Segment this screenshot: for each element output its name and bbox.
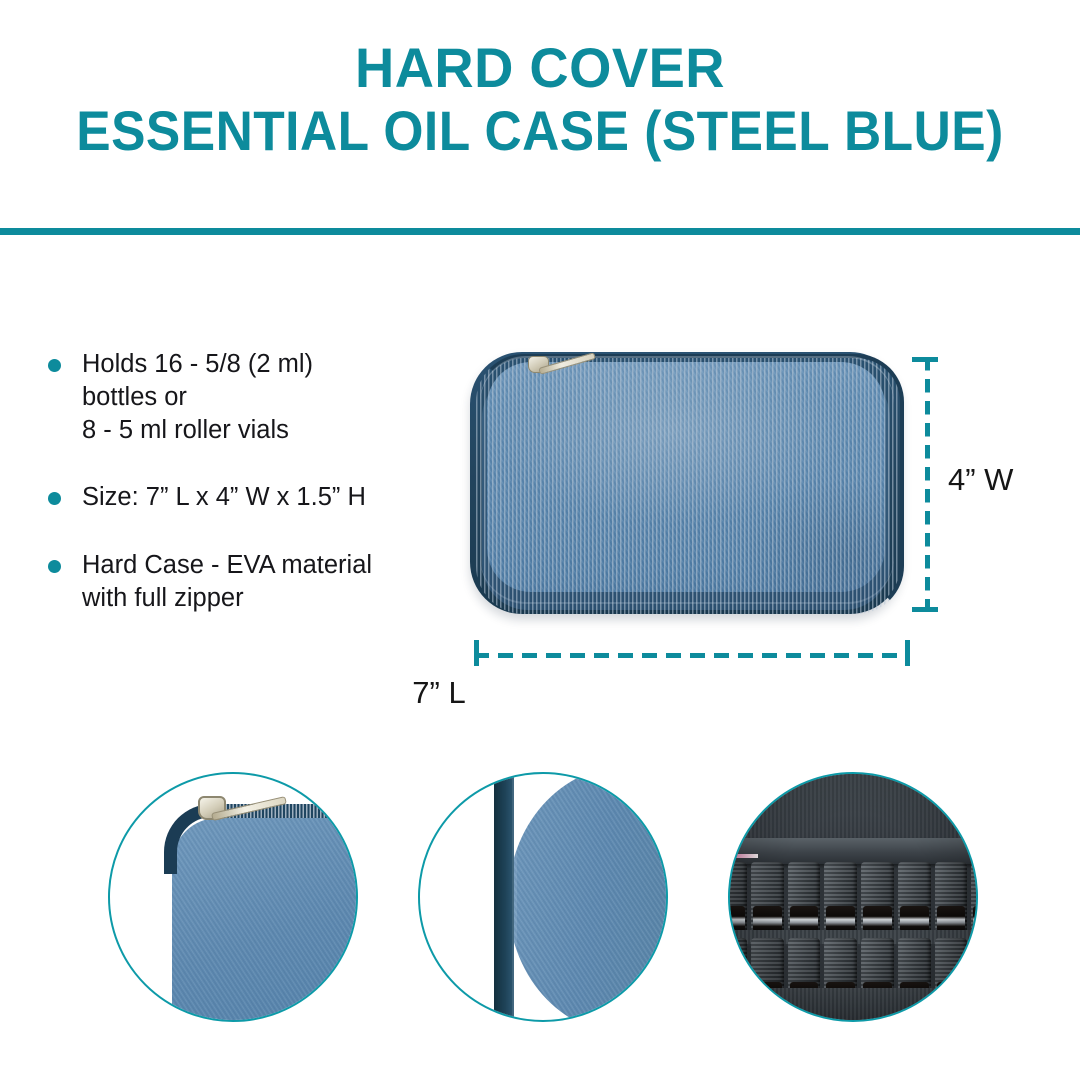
bracket-dashed-line xyxy=(474,653,910,658)
case-interior xyxy=(728,772,978,1022)
product-hero-image xyxy=(470,352,902,614)
list-item: Hard Case - EVA material with full zippe… xyxy=(46,549,466,615)
detail-circle-side-profile xyxy=(418,772,668,1022)
bracket-cap-right xyxy=(905,640,910,666)
detail-circle-zipper-corner xyxy=(108,772,358,1022)
page-title: HARD COVER ESSENTIAL OIL CASE (STEEL BLU… xyxy=(0,38,1080,161)
feature-material-text: Hard Case - EVA material with full zippe… xyxy=(82,549,466,615)
bullet-dot-icon xyxy=(48,359,61,372)
fabric-weave-texture xyxy=(508,772,668,1022)
width-dimension-label: 4” W xyxy=(948,462,1013,498)
length-dimension-label: 7” L xyxy=(412,675,465,710)
zipper-slider-icon xyxy=(198,796,226,820)
length-dimension-bracket xyxy=(474,640,910,666)
detail-image-row xyxy=(0,772,1080,1030)
case-edge-trim xyxy=(494,772,514,1022)
length-dimension-label-wrap: 7” L xyxy=(0,675,1080,711)
zipper-slider-icon xyxy=(528,356,549,373)
case-edge-highlight xyxy=(512,772,517,1022)
interior-vignette xyxy=(728,772,978,1022)
case-side-fabric xyxy=(508,772,668,1022)
zipper-seam xyxy=(480,356,894,604)
title-line-primary: HARD COVER xyxy=(16,38,1064,97)
feature-list: Holds 16 - 5/8 (2 ml) bottles or 8 - 5 m… xyxy=(46,348,466,615)
feature-size-text: Size: 7” L x 4” W x 1.5” H xyxy=(82,481,466,514)
bracket-cap-bottom xyxy=(912,607,938,612)
title-line-secondary: ESSENTIAL OIL CASE (STEEL BLUE) xyxy=(43,101,1037,160)
list-item: Holds 16 - 5/8 (2 ml) bottles or 8 - 5 m… xyxy=(46,348,466,447)
feature-capacity-text: Holds 16 - 5/8 (2 ml) bottles or 8 - 5 m… xyxy=(82,348,466,447)
list-item: Size: 7” L x 4” W x 1.5” H xyxy=(46,481,466,514)
bullet-dot-icon xyxy=(48,492,61,505)
detail-circle-interior-bottles xyxy=(728,772,978,1022)
header-divider xyxy=(0,228,1080,235)
bullet-dot-icon xyxy=(48,560,61,573)
header: HARD COVER ESSENTIAL OIL CASE (STEEL BLU… xyxy=(0,0,1080,234)
width-dimension-bracket xyxy=(912,357,938,612)
bracket-dashed-line xyxy=(925,357,930,612)
